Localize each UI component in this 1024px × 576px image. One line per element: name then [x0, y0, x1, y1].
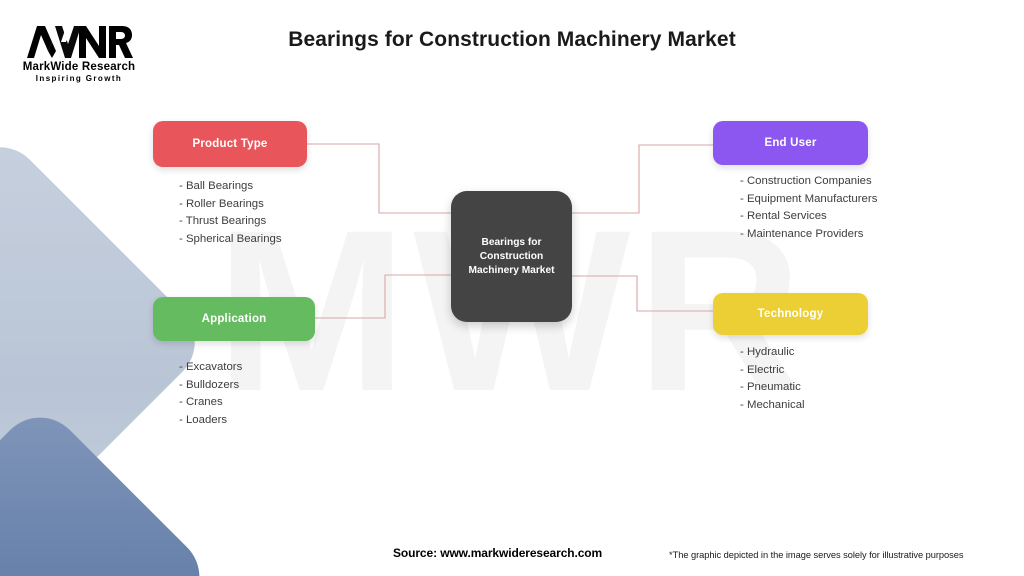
- segment-header-technology[interactable]: Technology: [713, 293, 868, 335]
- list-item: - Ball Bearings: [179, 178, 282, 196]
- list-item: - Mechanical: [740, 397, 805, 415]
- page-title: Bearings for Construction Machinery Mark…: [0, 28, 1024, 52]
- logo-tagline: Inspiring Growth: [16, 74, 142, 83]
- segment-items-end-user: - Construction Companies - Equipment Man…: [740, 173, 877, 243]
- list-item: - Electric: [740, 362, 805, 380]
- segment-header-end-user[interactable]: End User: [713, 121, 868, 165]
- segment-header-application[interactable]: Application: [153, 297, 315, 341]
- list-item: - Hydraulic: [740, 344, 805, 362]
- list-item: - Spherical Bearings: [179, 231, 282, 249]
- segment-items-technology: - Hydraulic - Electric - Pneumatic - Mec…: [740, 344, 805, 414]
- connector-end-user: [568, 145, 713, 213]
- list-item: - Excavators: [179, 359, 242, 377]
- segment-header-product-type[interactable]: Product Type: [153, 121, 307, 167]
- connector-technology: [568, 276, 713, 311]
- infographic-canvas: MWR: [0, 0, 1024, 576]
- list-item: - Maintenance Providers: [740, 226, 877, 244]
- logo-company-name: MarkWide Research: [16, 61, 142, 73]
- center-node[interactable]: Bearings for Construction Machinery Mark…: [451, 191, 572, 322]
- list-item: - Equipment Manufacturers: [740, 191, 877, 209]
- disclaimer-note: *The graphic depicted in the image serve…: [669, 550, 963, 560]
- list-item: - Cranes: [179, 394, 242, 412]
- list-item: - Pneumatic: [740, 379, 805, 397]
- source-label: Source: www.markwideresearch.com: [393, 546, 602, 560]
- list-item: - Rental Services: [740, 208, 877, 226]
- segment-items-product-type: - Ball Bearings - Roller Bearings - Thru…: [179, 178, 282, 248]
- connector-application: [315, 275, 455, 318]
- list-item: - Bulldozers: [179, 377, 242, 395]
- list-item: - Loaders: [179, 412, 242, 430]
- connector-product-type: [307, 144, 455, 213]
- segment-items-application: - Excavators - Bulldozers - Cranes - Loa…: [179, 359, 242, 429]
- list-item: - Construction Companies: [740, 173, 877, 191]
- list-item: - Thrust Bearings: [179, 213, 282, 231]
- list-item: - Roller Bearings: [179, 196, 282, 214]
